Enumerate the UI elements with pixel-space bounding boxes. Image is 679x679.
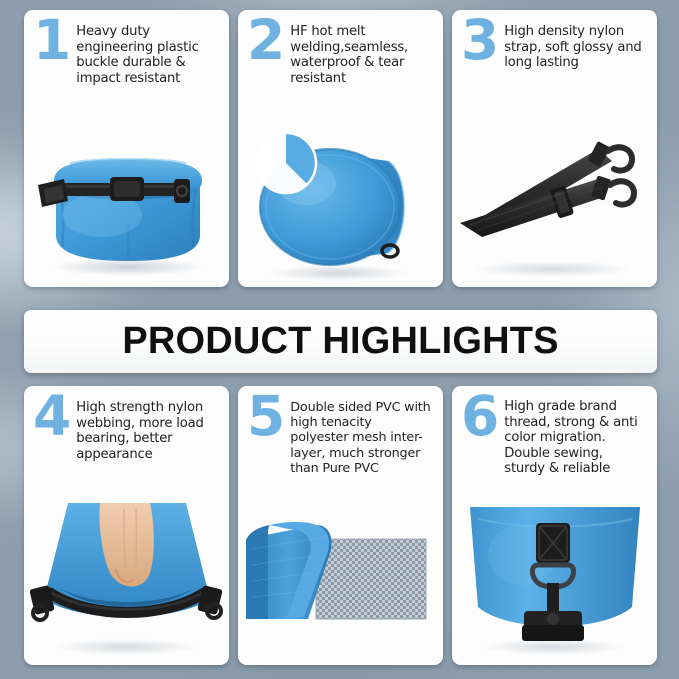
feature-header: 6 High grade brand thread, strong & anti… [452,386,657,477]
product-image-webbing-handle [24,495,229,665]
feature-description: High strength nylon webbing, more load b… [76,397,219,462]
feature-card-3[interactable]: 3 High density nylon strap, soft glossy … [452,10,657,287]
feature-number: 1 [33,18,69,86]
feature-number: 3 [461,18,497,71]
feature-description: Double sided PVC with high tenacity poly… [290,397,433,476]
feature-description: High grade brand thread, strong & anti c… [504,397,647,477]
feature-header: 2 HF hot melt welding,seamless, waterpro… [238,10,443,86]
feature-card-6[interactable]: 6 High grade brand thread, strong & anti… [452,386,657,665]
product-image-stitched-d-ring [452,495,657,665]
feature-header: 1 Heavy duty engineering plastic buckle … [24,10,229,86]
feature-header: 3 High density nylon strap, soft glossy … [452,10,657,71]
feature-description: High density nylon strap, soft glossy an… [504,21,647,71]
feature-row-top: 1 Heavy duty engineering plastic buckle … [24,10,657,287]
product-image-shoulder-strap [452,127,657,287]
feature-number: 2 [247,18,283,86]
feature-card-1[interactable]: 1 Heavy duty engineering plastic buckle … [24,10,229,287]
product-image-welded-seam [238,127,443,287]
feature-header: 4 High strength nylon webbing, more load… [24,386,229,462]
feature-card-5[interactable]: 5 Double sided PVC with high tenacity po… [238,386,443,665]
feature-description: HF hot melt welding,seamless, waterproof… [290,21,433,86]
feature-row-bottom: 4 High strength nylon webbing, more load… [24,386,657,665]
feature-header: 5 Double sided PVC with high tenacity po… [238,386,443,476]
feature-description: Heavy duty engineering plastic buckle du… [76,21,219,86]
feature-number: 4 [33,394,69,462]
feature-number: 6 [461,394,497,477]
product-image-pvc-mesh-layer [238,495,443,665]
banner-title: PRODUCT HIGHLIGHTS [122,320,558,363]
product-highlights-banner: PRODUCT HIGHLIGHTS [24,310,657,373]
feature-number: 5 [247,394,283,476]
feature-card-2[interactable]: 2 HF hot melt welding,seamless, waterpro… [238,10,443,287]
product-image-dry-bag-buckle [24,127,229,287]
feature-card-4[interactable]: 4 High strength nylon webbing, more load… [24,386,229,665]
